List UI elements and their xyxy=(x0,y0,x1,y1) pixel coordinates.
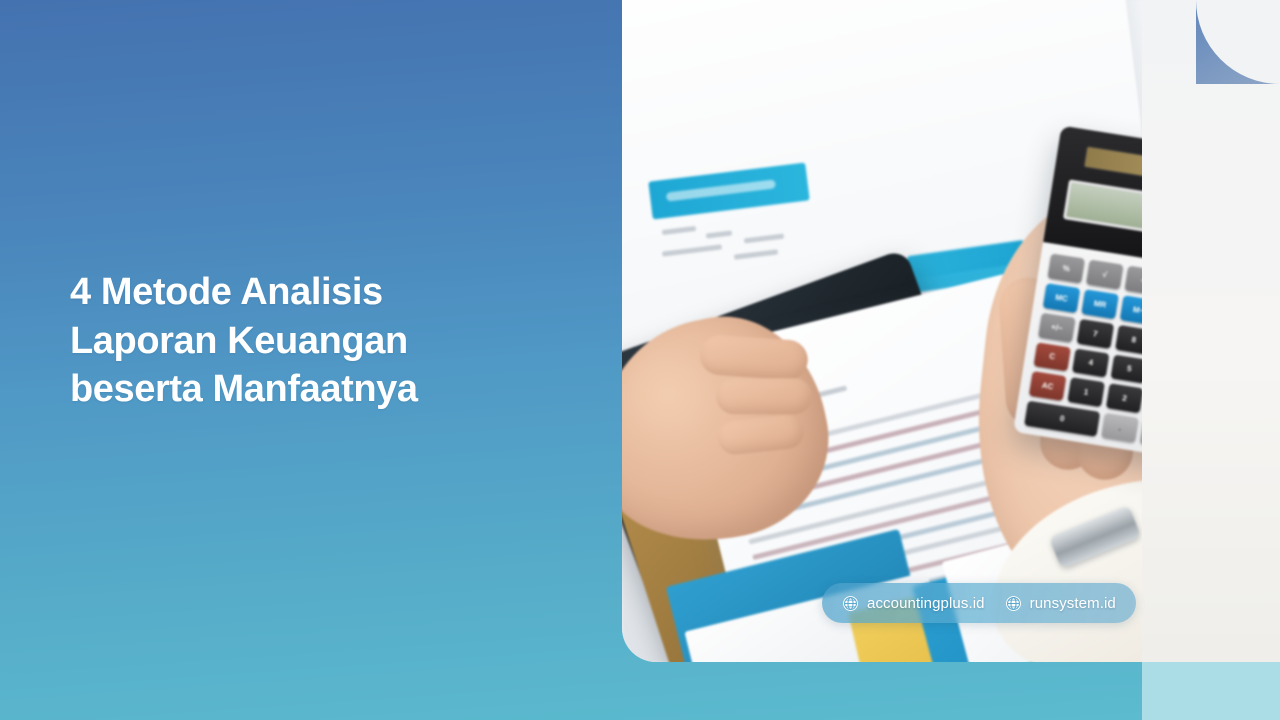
calculator-key-mr: MR xyxy=(1081,289,1118,319)
calculator-key-c: C xyxy=(1034,342,1071,372)
banner-canvas: % √ ÷ × ← MC MR M− M+ ÷ +/− 7 8 9 − C xyxy=(0,0,1280,720)
calculator-key-1: 1 xyxy=(1067,377,1104,407)
badge-item-runsystem[interactable]: runsystem.id xyxy=(1005,595,1116,612)
calculator-key-sqrt: √ xyxy=(1086,260,1123,290)
globe-icon xyxy=(1005,595,1022,612)
right-white-panel xyxy=(1142,0,1280,662)
website-badge: accountingplus.id runsystem.id xyxy=(822,583,1136,623)
page-title-line-3: beserta Manfaatnya xyxy=(70,365,590,414)
calculator-key-mc: MC xyxy=(1043,283,1080,313)
calculator-key-0: 0 xyxy=(1024,401,1100,437)
top-right-corner-notch xyxy=(1196,0,1280,84)
page-title-line-2: Laporan Keuangan xyxy=(70,317,590,366)
calculator-key-dot: . xyxy=(1101,413,1138,443)
calculator-key-ac: AC xyxy=(1029,371,1066,401)
calculator-key-4: 4 xyxy=(1072,348,1109,378)
page-title: 4 Metode Analisis Laporan Keuangan beser… xyxy=(70,268,590,414)
calculator-key-2: 2 xyxy=(1106,384,1143,414)
badge-item-accountingplus[interactable]: accountingplus.id xyxy=(842,595,985,612)
page-title-line-1: 4 Metode Analisis xyxy=(70,268,590,317)
badge-label-accountingplus: accountingplus.id xyxy=(867,595,985,612)
calculator-key-7: 7 xyxy=(1077,318,1114,348)
badge-label-runsystem: runsystem.id xyxy=(1030,595,1116,612)
calculator-key-percent: % xyxy=(1048,253,1085,283)
globe-icon xyxy=(842,595,859,612)
bottom-right-teal-fill xyxy=(1142,662,1280,720)
calculator-key-signchange: +/− xyxy=(1038,312,1075,342)
